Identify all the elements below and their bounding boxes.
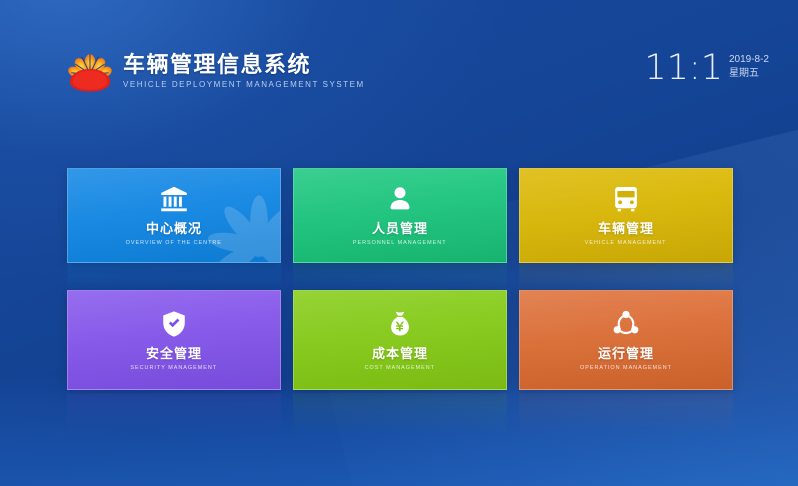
bus-icon: [611, 184, 641, 214]
brand-block: 车辆管理信息系统 VEHICLE DEPLOYMENT MANAGEMENT S…: [66, 46, 365, 94]
tile-vehicle[interactable]: 车辆管理 VEHICLE MANAGEMENT: [519, 168, 733, 263]
clock-widget: 11:1 2019-8-2 星期五: [644, 48, 769, 88]
person-icon: [385, 184, 415, 214]
share-nodes-icon: [611, 309, 641, 339]
bank-building-icon: [159, 184, 189, 214]
sunburst-watermark-icon: [204, 192, 281, 263]
page-subtitle: VEHICLE DEPLOYMENT MANAGEMENT SYSTEM: [123, 80, 365, 90]
tile-label-zh: 人员管理: [372, 221, 428, 236]
tile-label-en: VEHICLE MANAGEMENT: [585, 238, 667, 247]
clock-date: 2019-8-2: [729, 54, 769, 65]
clock-weekday: 星期五: [729, 68, 769, 79]
tile-label-en: SECURITY MANAGEMENT: [131, 363, 218, 372]
tile-reflection: [519, 393, 733, 435]
tile-reflection: [67, 393, 281, 435]
tile-operation[interactable]: 运行管理 OPERATION MANAGEMENT: [519, 290, 733, 390]
tile-label-zh: 车辆管理: [598, 221, 654, 236]
tile-label-en: PERSONNEL MANAGEMENT: [353, 238, 447, 247]
tile-label-zh: 中心概况: [146, 221, 202, 236]
app-header: 车辆管理信息系统 VEHICLE DEPLOYMENT MANAGEMENT S…: [0, 0, 798, 120]
tile-overview[interactable]: 中心概况 OVERVIEW OF THE CENTRE: [67, 168, 281, 263]
tile-reflection: [293, 393, 507, 435]
tile-label-en: COST MANAGEMENT: [365, 363, 435, 372]
page-title: 车辆管理信息系统: [123, 52, 365, 78]
tile-label-zh: 运行管理: [598, 346, 654, 361]
app-background: 车辆管理信息系统 VEHICLE DEPLOYMENT MANAGEMENT S…: [0, 0, 798, 486]
tile-label-en: OVERVIEW OF THE CENTRE: [126, 238, 222, 247]
clock-time: 11:1: [644, 48, 723, 88]
module-grid: 中心概况 OVERVIEW OF THE CENTRE 人员管理 PERSONN…: [67, 168, 732, 393]
tile-personnel[interactable]: 人员管理 PERSONNEL MANAGEMENT: [293, 168, 507, 263]
shield-check-icon: [159, 309, 189, 339]
tile-label-en: OPERATION MANAGEMENT: [580, 363, 672, 372]
tile-cost[interactable]: 成本管理 COST MANAGEMENT: [293, 290, 507, 390]
cnpc-flower-logo-icon: [66, 46, 114, 94]
money-bag-yuan-icon: [385, 309, 415, 339]
tile-label-zh: 成本管理: [372, 346, 428, 361]
tile-security[interactable]: 安全管理 SECURITY MANAGEMENT: [67, 290, 281, 390]
tile-label-zh: 安全管理: [146, 346, 202, 361]
